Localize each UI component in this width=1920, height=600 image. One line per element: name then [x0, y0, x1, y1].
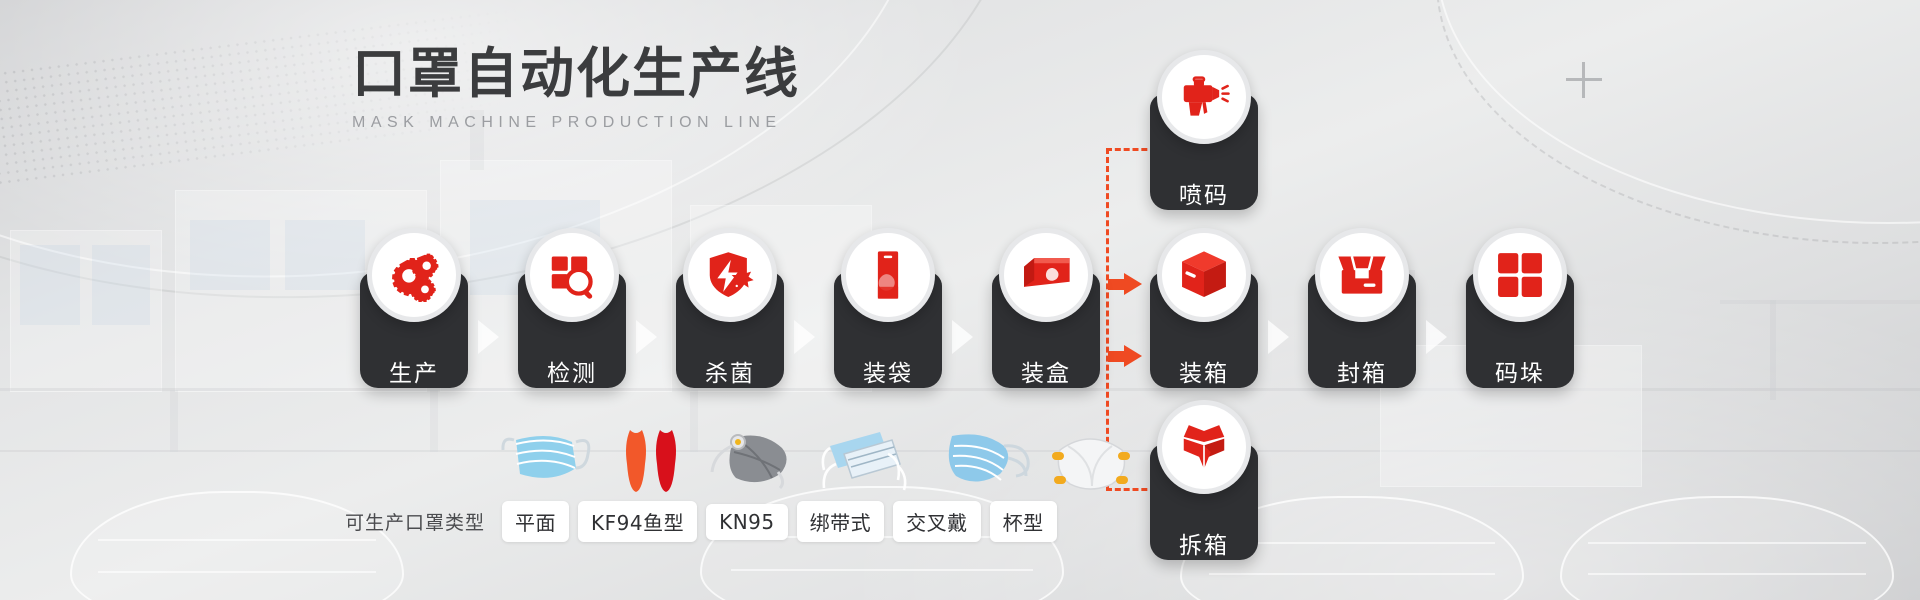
mask-image-tie-on — [818, 424, 928, 498]
mask-type-tag-flat[interactable]: 平面 — [502, 501, 569, 542]
open-box-icon — [1157, 400, 1251, 494]
node-label: 装袋 — [834, 354, 942, 388]
branch-arrow-lower — [1108, 345, 1142, 367]
boxing-icon — [999, 228, 1093, 322]
background-ghost-mask-4 — [1560, 496, 1894, 600]
mask-type-tag-cross-strap[interactable]: 交叉戴 — [893, 501, 981, 542]
mask-type-tag-cup[interactable]: 杯型 — [990, 501, 1057, 542]
plus-mark-icon — [1566, 62, 1602, 98]
node-label: 拆箱 — [1150, 526, 1258, 560]
carton-icon — [1157, 228, 1251, 322]
mask-type-tag-kf94[interactable]: KF94鱼型 — [578, 501, 697, 542]
mask-image-kn95 — [708, 424, 812, 498]
gears-icon — [367, 228, 461, 322]
mask-image-kf94 — [616, 424, 690, 498]
node-label: 检测 — [518, 354, 626, 388]
background-swoosh-3 — [1436, 0, 1920, 224]
node-label: 杀菌 — [676, 354, 784, 388]
sealed-carton-icon — [1315, 228, 1409, 322]
mask-gallery — [498, 420, 1058, 498]
spray-gun-icon — [1157, 50, 1251, 144]
branch-arrow-upper — [1108, 273, 1142, 295]
shield-sterilize-icon — [683, 228, 777, 322]
flow-arrow-3 — [794, 320, 815, 354]
headline-block: 口罩自动化生产线 MASK MACHINE PRODUCTION LINE — [352, 44, 800, 132]
mask-image-cross-strap — [934, 424, 1038, 498]
mask-types-label: 可生产口罩类型 — [345, 508, 485, 535]
mask-image-flat — [498, 424, 602, 498]
flow-arrow-5 — [1268, 320, 1289, 354]
page-subtitle: MASK MACHINE PRODUCTION LINE — [352, 114, 800, 132]
flow-arrow-6 — [1426, 320, 1447, 354]
node-label: 装盒 — [992, 354, 1100, 388]
node-label: 码垛 — [1466, 354, 1574, 388]
palletize-grid-icon — [1473, 228, 1567, 322]
flow-arrow-1 — [478, 320, 499, 354]
background-swoosh-dashed — [1436, 0, 1920, 244]
mask-types-row: 可生产口罩类型 平面 KF94鱼型 KN95 绑带式 交叉戴 杯型 — [345, 501, 1057, 542]
flow-arrow-4 — [952, 320, 973, 354]
magnifier-blocks-icon — [525, 228, 619, 322]
node-label: 装箱 — [1150, 354, 1258, 388]
mask-type-tag-kn95[interactable]: KN95 — [706, 504, 788, 540]
mask-type-tag-tie-on[interactable]: 绑带式 — [797, 501, 885, 542]
bagging-icon — [841, 228, 935, 322]
page-title: 口罩自动化生产线 — [352, 44, 800, 103]
node-label: 喷码 — [1150, 176, 1258, 210]
flow-arrow-2 — [636, 320, 657, 354]
mask-image-cup — [1046, 424, 1136, 498]
node-label: 生产 — [360, 354, 468, 388]
banner-stage: 口罩自动化生产线 MASK MACHINE PRODUCTION LINE — [0, 0, 1920, 600]
node-label: 封箱 — [1308, 354, 1416, 388]
